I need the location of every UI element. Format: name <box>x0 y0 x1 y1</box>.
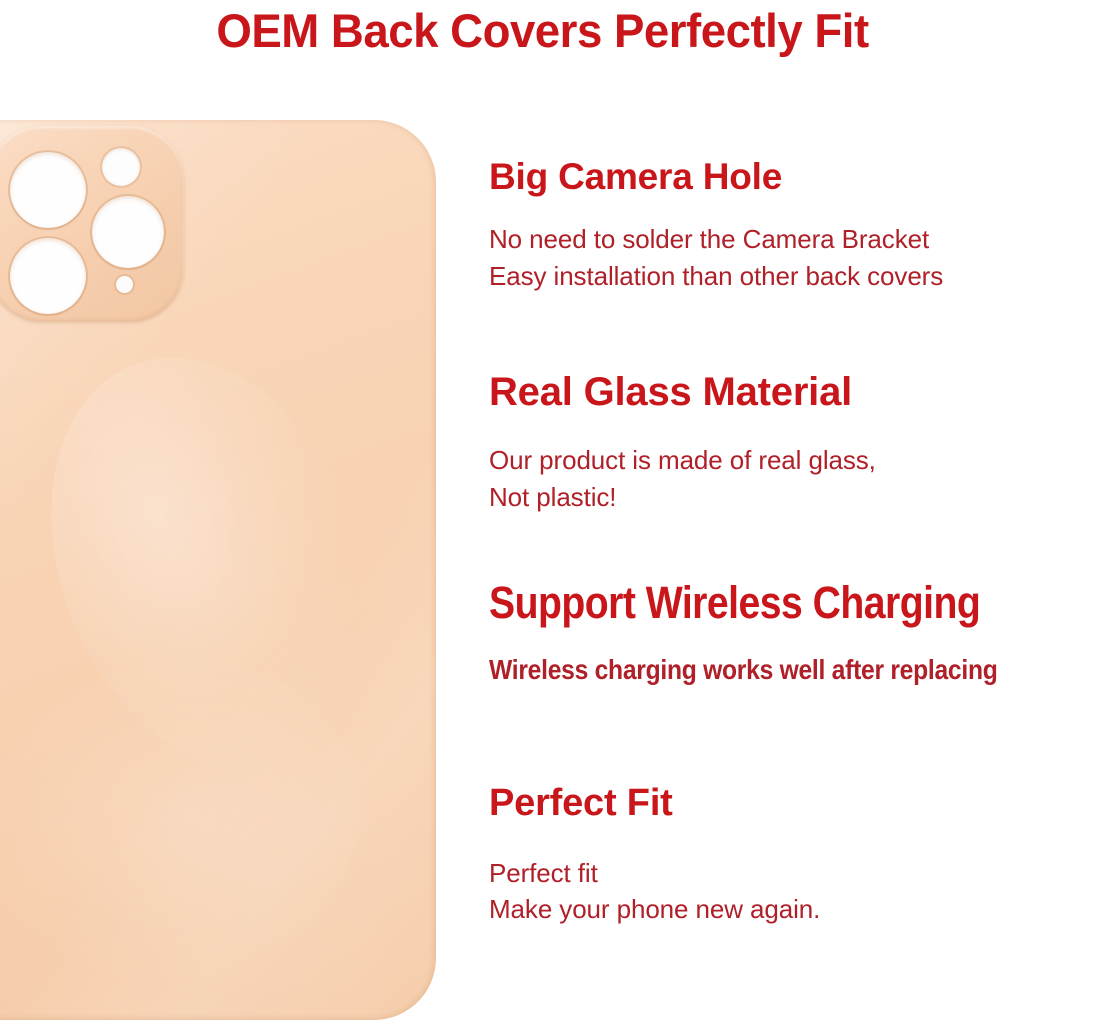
camera-module <box>0 126 184 322</box>
product-image-phone-back-cover <box>0 120 436 1020</box>
phone-body <box>0 120 436 1020</box>
camera-lens-bottom-left-icon <box>10 238 86 314</box>
feature-description: Our product is made of real glass, Not p… <box>489 442 1099 516</box>
camera-lens-top-left-icon <box>10 152 86 228</box>
camera-flash-icon <box>102 148 140 186</box>
camera-lens-right-icon <box>92 196 164 268</box>
feature-description: Wireless charging works well after repla… <box>489 650 998 690</box>
feature-description: Perfect fit Make your phone new again. <box>489 855 1099 929</box>
glass-sheen-upper <box>0 309 432 820</box>
feature-item-perfect-fit: Perfect Fit Perfect fit Make your phone … <box>489 782 1099 928</box>
feature-heading: Real Glass Material <box>489 370 1099 415</box>
feature-heading: Big Camera Hole <box>489 156 1099 197</box>
feature-item-real-glass-material: Real Glass Material Our product is made … <box>489 370 1099 516</box>
feature-list: Big Camera Hole No need to solder the Ca… <box>489 0 1099 1026</box>
camera-microphone-icon <box>116 276 133 293</box>
feature-item-big-camera-hole: Big Camera Hole No need to solder the Ca… <box>489 156 1099 295</box>
feature-item-support-wireless-charging: Support Wireless Charging Wireless charg… <box>489 578 1099 690</box>
feature-heading: Perfect Fit <box>489 782 1099 825</box>
feature-heading: Support Wireless Charging <box>489 578 980 628</box>
glass-sheen-lower <box>0 619 395 1021</box>
product-infographic: OEM Back Covers Perfectly Fit Big Camera… <box>0 0 1099 1026</box>
feature-description: No need to solder the Camera Bracket Eas… <box>489 221 1099 295</box>
